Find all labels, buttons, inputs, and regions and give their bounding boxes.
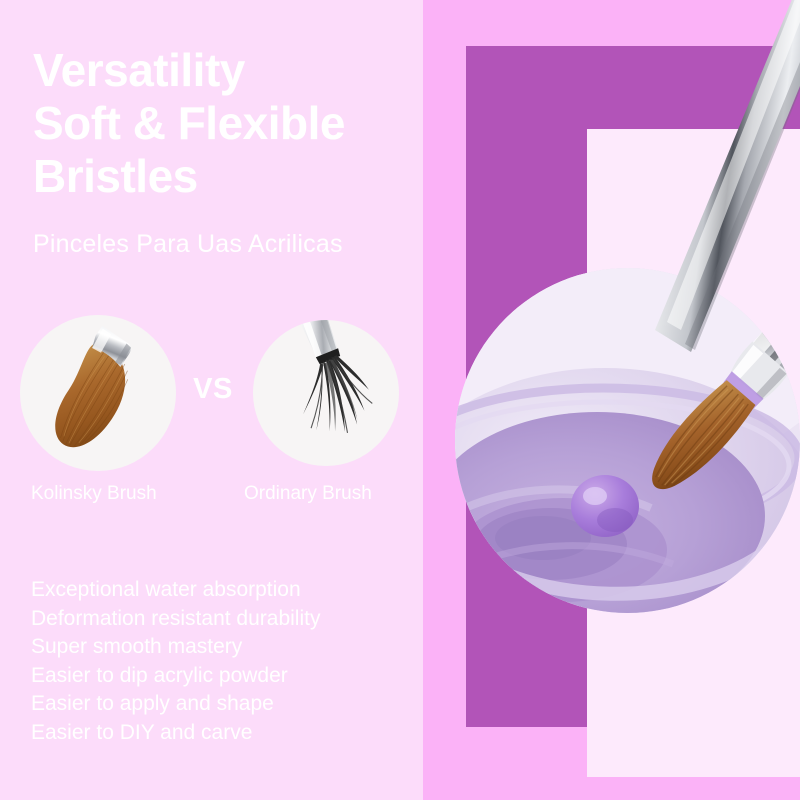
feature-list: Exceptional water absorption Deformation…: [31, 576, 320, 747]
feature-item: Deformation resistant durability: [31, 605, 320, 634]
page-title: Versatility Soft & Flexible Bristles: [33, 44, 433, 203]
brush-dipping-powder-photo: [455, 268, 800, 613]
headline-line-1: Versatility: [33, 44, 433, 97]
feature-item: Super smooth mastery: [31, 633, 320, 662]
ordinary-brush-icon: [253, 320, 399, 466]
ordinary-brush-caption: Ordinary Brush: [244, 483, 372, 505]
feature-item: Easier to dip acrylic powder: [31, 662, 320, 691]
ordinary-brush-circle: [253, 320, 399, 466]
hero-product-photo: [455, 268, 800, 613]
product-marketing-image: Versatility Soft & Flexible Bristles Pin…: [0, 0, 800, 800]
feature-item: Exceptional water absorption: [31, 576, 320, 605]
kolinsky-brush-caption: Kolinsky Brush: [31, 483, 157, 505]
vs-separator-label: VS: [186, 373, 240, 406]
page-subtitle: Pinceles Para Uas Acrilicas: [33, 230, 343, 259]
brush-comparison: VS: [0, 305, 423, 515]
headline-line-3: Bristles: [33, 150, 433, 203]
feature-item: Easier to DIY and carve: [31, 719, 320, 748]
headline-line-2: Soft & Flexible: [33, 97, 433, 150]
kolinsky-brush-circle: [20, 315, 176, 471]
feature-item: Easier to apply and shape: [31, 690, 320, 719]
kolinsky-brush-icon: [20, 315, 176, 471]
